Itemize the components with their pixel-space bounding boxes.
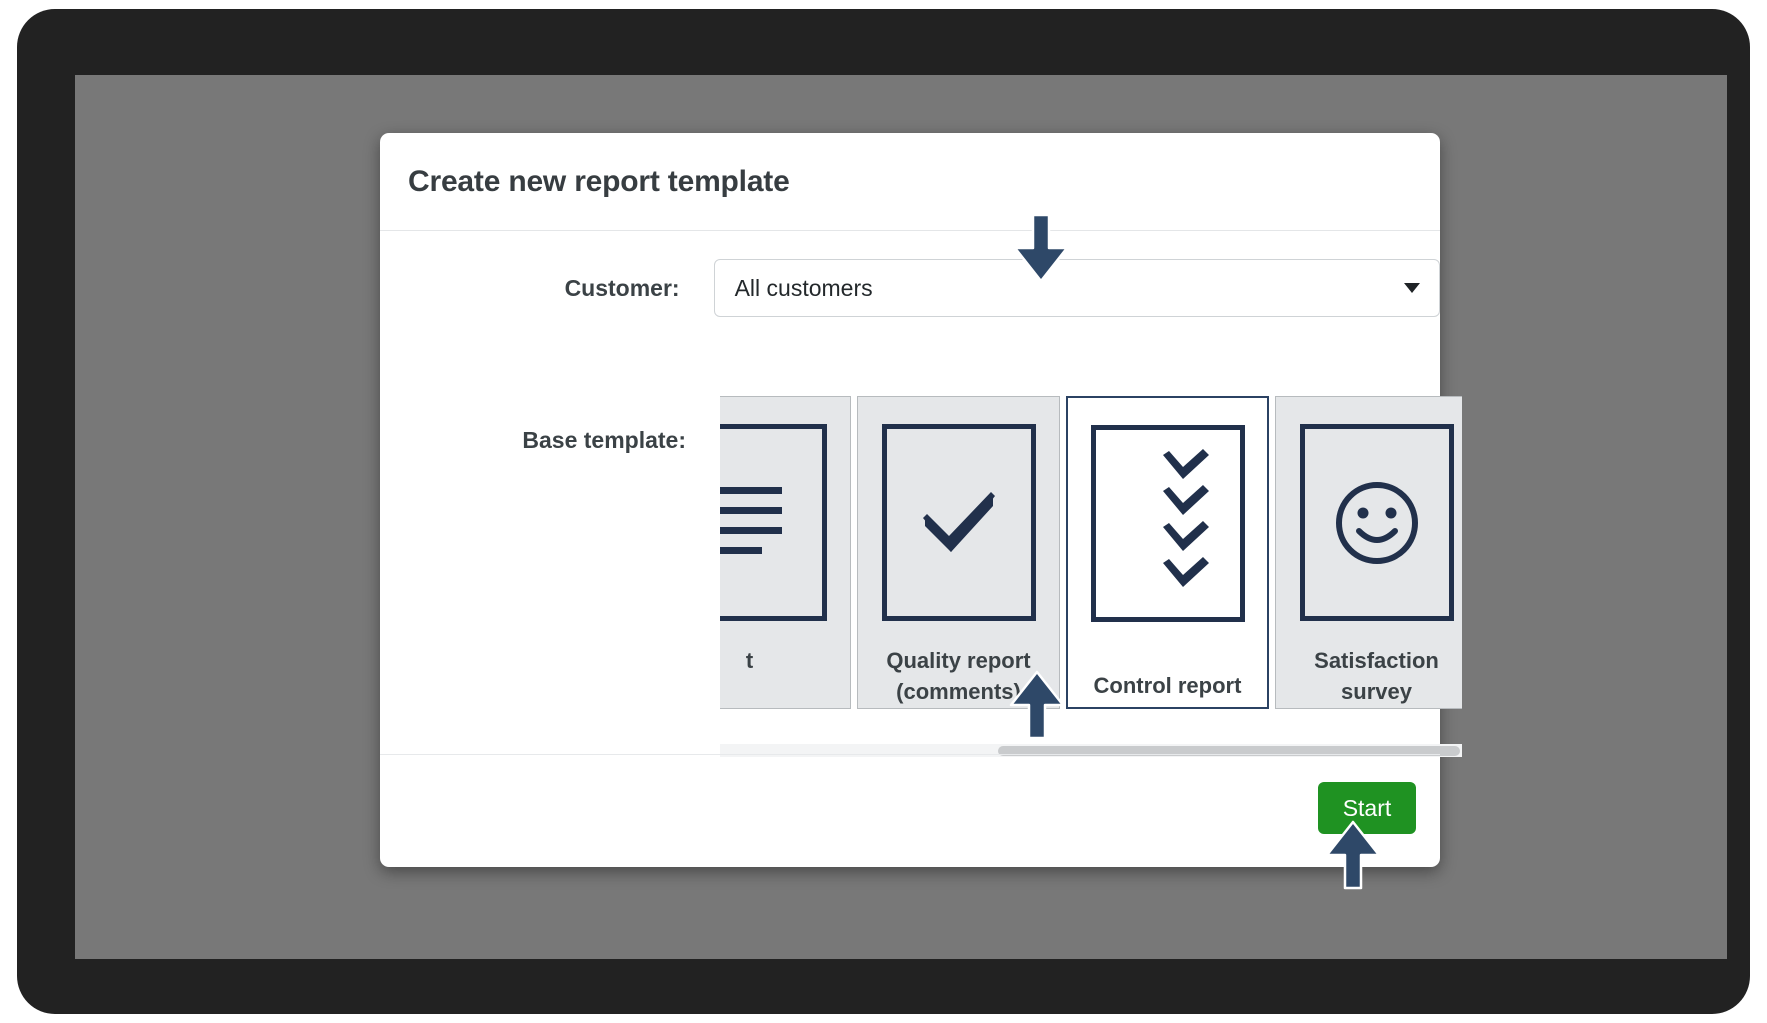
dialog-header: Create new report template	[380, 133, 1440, 231]
checklist-glyph	[1159, 449, 1211, 599]
template-card-label: Control report	[1090, 670, 1246, 701]
page-title: Create new report template	[408, 165, 790, 199]
template-card-label: t	[742, 645, 757, 676]
template-card-label-line1: Quality report	[886, 645, 1030, 676]
template-card-label: Quality report (comments)	[882, 645, 1034, 707]
customer-select-wrapper: All customers	[714, 259, 1440, 317]
base-template-card-strip: t Quality report	[720, 396, 1462, 709]
base-template-label: Base template:	[380, 427, 720, 454]
smiley-icon	[1300, 424, 1454, 621]
template-card-control-report[interactable]: Control report	[1066, 396, 1269, 709]
template-card-quality-report[interactable]: Quality report (comments)	[857, 396, 1060, 709]
template-card-label-line1: Satisfaction	[1314, 645, 1439, 676]
base-template-card-scroller[interactable]: t Quality report	[720, 396, 1462, 741]
template-card-satisfaction-survey[interactable]: Satisfaction survey	[1275, 396, 1462, 709]
dialog-footer: Start	[380, 754, 1440, 866]
start-button[interactable]: Start	[1318, 782, 1416, 834]
template-card-label-line2: (comments)	[886, 676, 1030, 707]
customer-label: Customer:	[380, 275, 714, 302]
smiley-glyph	[1333, 479, 1421, 567]
template-card-label: Satisfaction survey	[1310, 645, 1443, 707]
customer-select[interactable]: All customers	[714, 259, 1440, 317]
create-report-template-dialog: Create new report template Customer: All…	[380, 133, 1440, 867]
checklist-icon	[1091, 425, 1245, 622]
document-lines-icon	[720, 424, 827, 621]
browser-viewport: Create new report template Customer: All…	[75, 75, 1727, 959]
dialog-body: Customer: All customers Base template:	[380, 231, 1440, 754]
template-card-document[interactable]: t	[720, 396, 851, 709]
document-lines-glyph	[720, 473, 790, 573]
check-icon	[882, 424, 1036, 621]
template-card-label-line1: Control report	[1094, 670, 1242, 701]
template-card-label-line2: survey	[1314, 676, 1439, 707]
device-frame: Create new report template Customer: All…	[17, 9, 1750, 1014]
customer-form-row: Customer: All customers	[380, 259, 1440, 317]
check-glyph	[917, 484, 1001, 562]
